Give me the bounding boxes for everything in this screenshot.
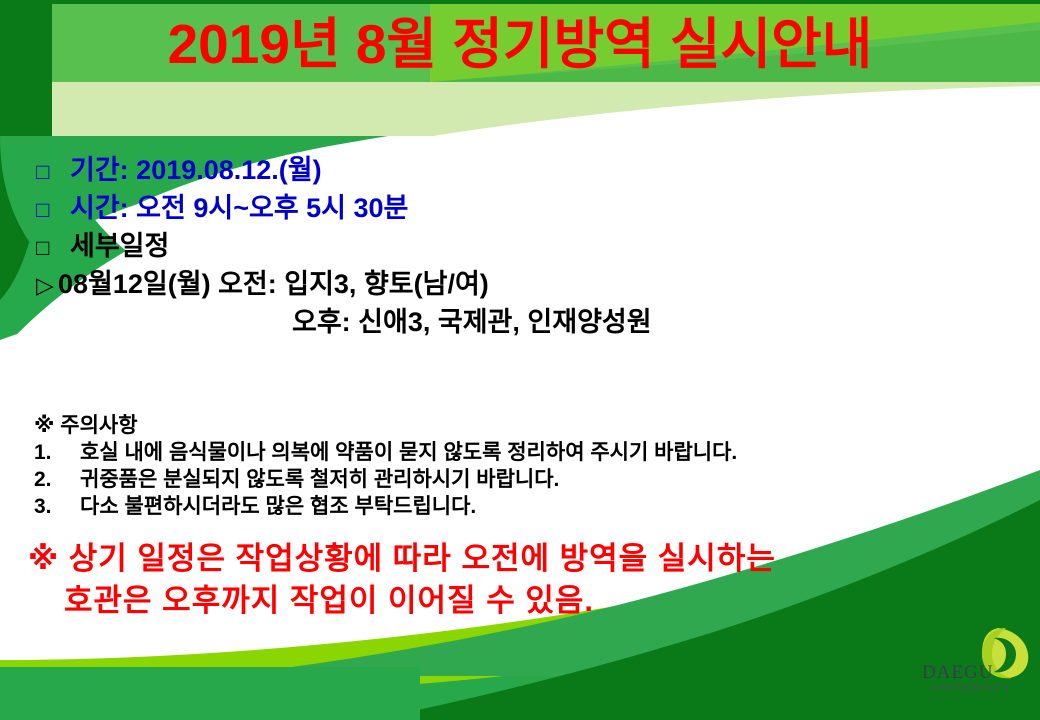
schedule-list: □ 기간: 2019.08.12.(월) □ 시간: 오전 9시~오후 5시 3… xyxy=(36,152,1016,341)
notice-item-number: 3. xyxy=(34,493,80,520)
schedule-item-period: □ 기간: 2019.08.12.(월) xyxy=(36,152,1016,190)
notice-item-number: 1. xyxy=(34,439,80,466)
page-title: 2019년 8월 정기방역 실시안내 xyxy=(168,17,873,72)
schedule-item-detail-pm-label: 오후: 신애3, 국제관, 인재양성원 xyxy=(36,304,1016,341)
schedule-item-time: □ 시간: 오전 9시~오후 5시 30분 xyxy=(36,190,1016,228)
logo-subtitle: UNIVERSITY xyxy=(930,683,1032,694)
triangle-bullet-icon: ▷ xyxy=(36,267,58,304)
bottom-green-band xyxy=(0,668,1040,720)
schedule-item-detail-am-label: 08월12일(월) 오전: 입지3, 향토(남/여) xyxy=(58,266,489,303)
square-bullet-icon: □ xyxy=(36,191,70,228)
notice-list-item: 2. 귀중품은 분실되지 않도록 철저히 관리하시기 바랍니다. xyxy=(34,466,1034,493)
bottom-left-flat-band xyxy=(0,667,420,720)
schedule-item-detail-heading: □ 세부일정 xyxy=(36,228,1016,266)
slide-title-banner: 2019년 8월 정기방역 실시안내 xyxy=(0,4,1040,84)
title-banner-pale-strip xyxy=(0,82,1040,136)
pale-strip-right xyxy=(52,82,1040,136)
schedule-item-detail-am: ▷ 08월12일(월) 오전: 입지3, 향토(남/여) xyxy=(36,266,1016,304)
schedule-item-period-label: 기간: 2019.08.12.(월) xyxy=(70,152,322,189)
warning-section: ※ 상기 일정은 작업상황에 따라 오전에 방역을 실시하는 호관은 오후까지 … xyxy=(28,538,1028,622)
notice-heading: ※ 주의사항 xyxy=(34,412,1034,439)
square-bullet-icon: □ xyxy=(36,153,70,190)
notice-item-text: 귀중품은 분실되지 않도록 철저히 관리하시기 바랍니다. xyxy=(80,466,559,493)
notice-item-number: 2. xyxy=(34,466,80,493)
schedule-item-detail-heading-label: 세부일정 xyxy=(70,228,169,265)
bottom-left-strip xyxy=(0,668,360,712)
logo-wordmark: DAEGU UNIVERSITY xyxy=(922,663,1032,694)
notice-list-item: 1. 호실 내에 음식물이나 의복에 약품이 묻지 않도록 정리하여 주시기 바… xyxy=(34,439,1034,466)
logo-name: DAEGU xyxy=(922,663,1032,682)
notice-item-text: 다소 불편하시더라도 많은 협조 부탁드립니다. xyxy=(80,493,476,520)
notice-list-item: 3. 다소 불편하시더라도 많은 협조 부탁드립니다. xyxy=(34,493,1034,520)
notice-section: ※ 주의사항 1. 호실 내에 음식물이나 의복에 약품이 묻지 않도록 정리하… xyxy=(34,412,1034,520)
schedule-item-time-label: 시간: 오전 9시~오후 5시 30분 xyxy=(70,190,408,227)
square-bullet-icon: □ xyxy=(36,229,70,266)
warning-line-1: ※ 상기 일정은 작업상황에 따라 오전에 방역을 실시하는 xyxy=(28,538,1028,580)
notice-item-text: 호실 내에 음식물이나 의복에 약품이 묻지 않도록 정리하여 주시기 바랍니다… xyxy=(80,439,737,466)
warning-line-2: 호관은 오후까지 작업이 이어질 수 있음. xyxy=(28,580,1028,622)
daegu-university-logo: DAEGU UNIVERSITY xyxy=(922,626,1032,698)
slide-canvas: 2019년 8월 정기방역 실시안내 □ 기간: 2019.08.12.(월) … xyxy=(0,0,1040,720)
